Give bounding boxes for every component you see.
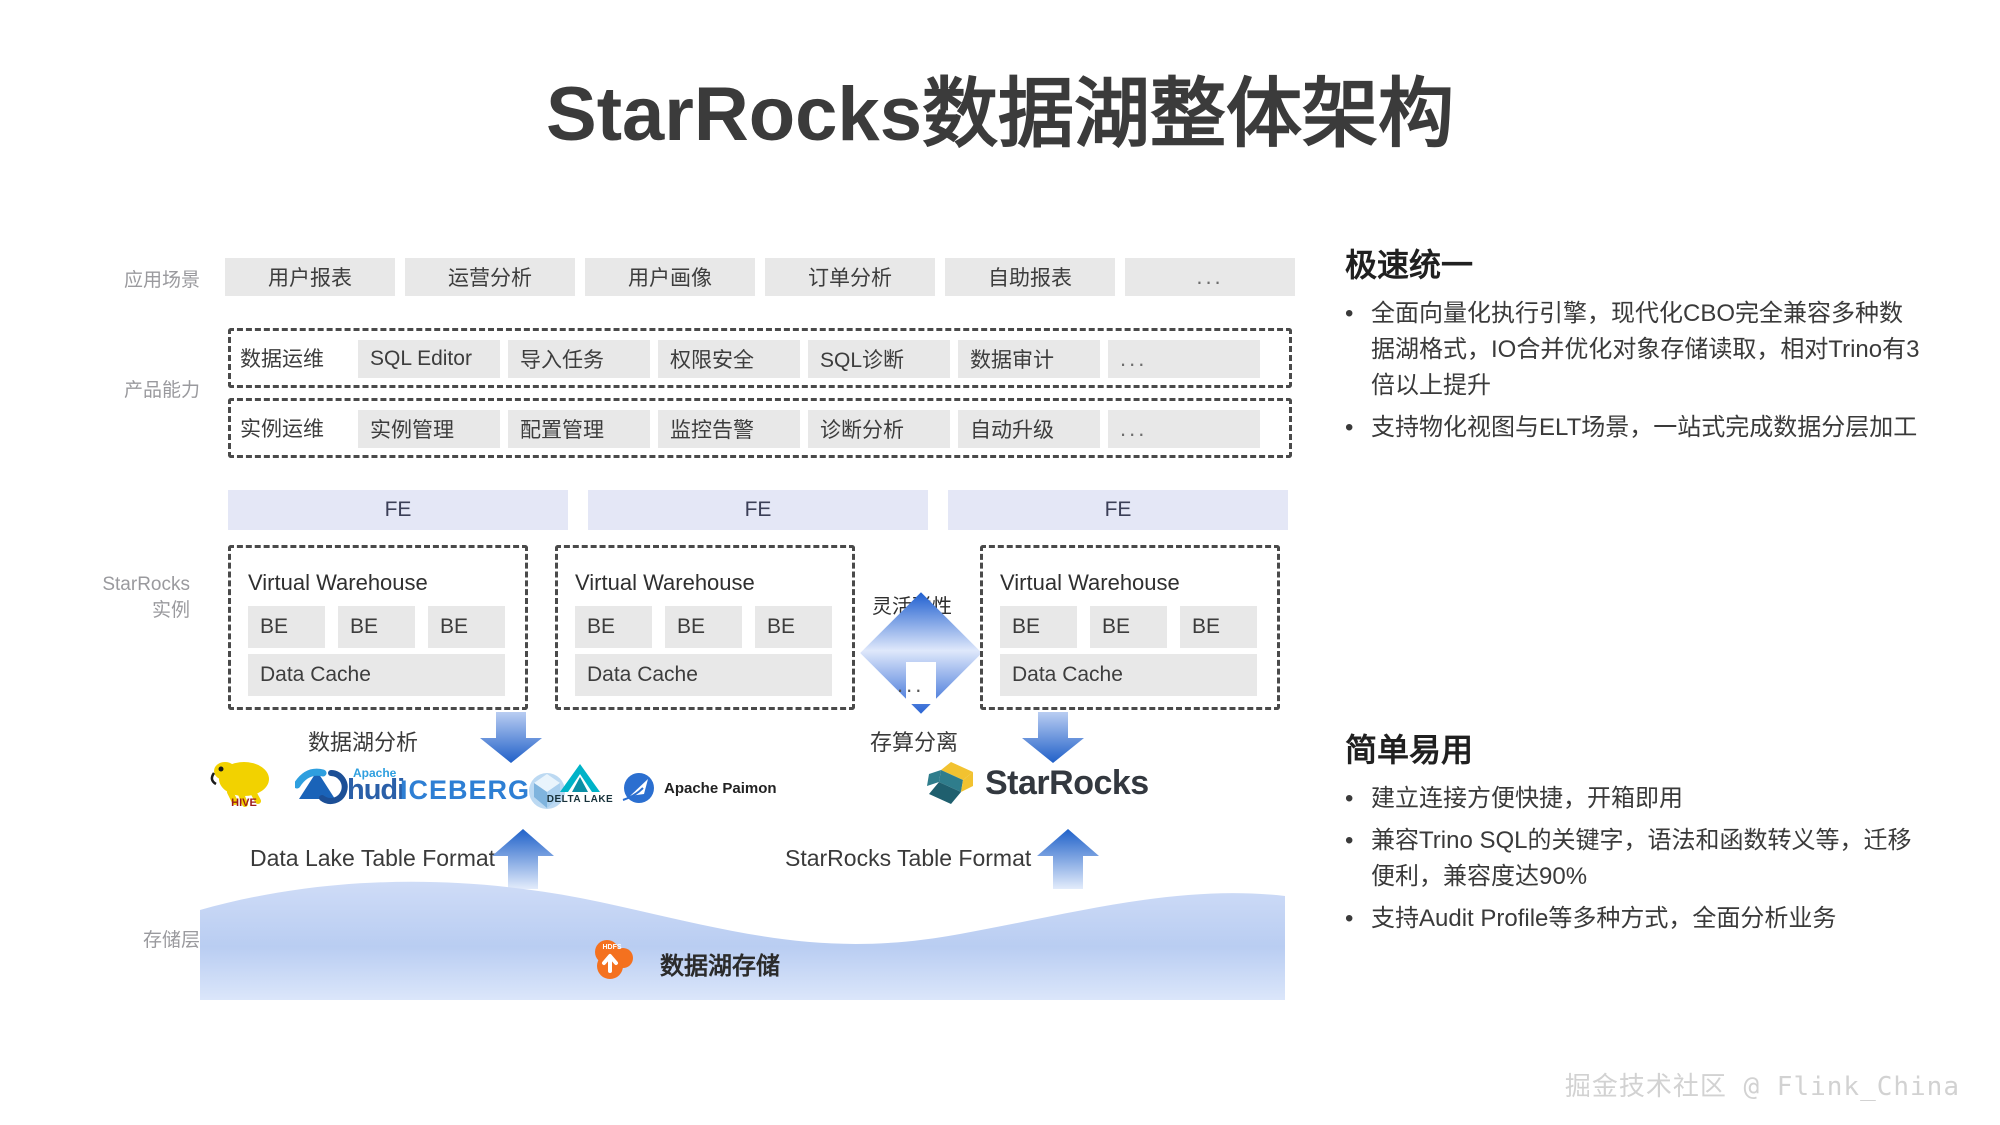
delta-lake-text: DELTA LAKE (547, 794, 613, 805)
panel-heading-0: 极速统一 (1345, 240, 1925, 286)
be-node-0-1[interactable]: BE (338, 606, 415, 648)
bullet-dot-icon: • (1345, 823, 1371, 859)
scenario-chip-more[interactable]: ... (1125, 258, 1295, 296)
data-cache-0[interactable]: Data Cache (248, 654, 505, 696)
svg-text:HIVE: HIVE (231, 797, 257, 809)
data-ops-chip-3[interactable]: SQL诊断 (808, 340, 950, 378)
instance-ops-chip-3[interactable]: 诊断分析 (808, 410, 950, 448)
data-ops-label: 数据运维 (240, 336, 360, 380)
hive-logo: HIVE (208, 755, 283, 810)
instance-ops-chip-1[interactable]: 配置管理 (508, 410, 650, 448)
storage-layer-label: 数据湖存储 (660, 946, 780, 981)
slide-canvas: StarRocks数据湖整体架构 应用场景 产品能力 StarRocks 实例 … (0, 0, 2000, 1125)
axis-label-instances-line2: 实例 (70, 598, 190, 624)
panel-0-bullet-0: • 全面向量化执行引擎，现代化CBO完全兼容多种数据湖格式，IO合并优化对象存储… (1345, 296, 1925, 404)
panel-heading-1: 简单易用 (1345, 725, 1925, 771)
flow-caption-storage-compute: 存算分离 (870, 725, 958, 757)
data-ops-chip-1[interactable]: 导入任务 (508, 340, 650, 378)
virtual-warehouse-title-1: Virtual Warehouse (575, 570, 755, 596)
scenario-chip-1[interactable]: 运营分析 (405, 258, 575, 296)
bullet-dot-icon: • (1345, 901, 1371, 937)
panel-speed-unified: 极速统一 • 全面向量化执行引擎，现代化CBO完全兼容多种数据湖格式，IO合并优… (1345, 240, 1925, 452)
be-node-0-0[interactable]: BE (248, 606, 325, 648)
flow-caption-lake-analysis: 数据湖分析 (308, 725, 418, 757)
starrocks-logo: StarRocks (925, 760, 1149, 806)
be-node-1-2[interactable]: BE (755, 606, 832, 648)
bullet-text: 支持Audit Profile等多种方式，全面分析业务 (1371, 901, 1925, 937)
fe-node-1[interactable]: FE (588, 490, 928, 530)
scenario-chip-0[interactable]: 用户报表 (225, 258, 395, 296)
be-node-1-0[interactable]: BE (575, 606, 652, 648)
panel-1-bullet-2: • 支持Audit Profile等多种方式，全面分析业务 (1345, 901, 1925, 937)
axis-label-instances-line1: StarRocks (70, 572, 190, 598)
axis-label-scenarios: 应用场景 (80, 268, 200, 294)
be-node-0-2[interactable]: BE (428, 606, 505, 648)
scenario-chip-3[interactable]: 订单分析 (765, 258, 935, 296)
scenario-chip-4[interactable]: 自助报表 (945, 258, 1115, 296)
arrow-down-lake-icon (478, 712, 544, 764)
arrow-down-starrocks-icon (1020, 712, 1086, 764)
hdfs-logo: HDFS (590, 938, 638, 980)
bullet-text: 建立连接方便快捷，开箱即用 (1371, 781, 1925, 817)
data-ops-chip-more[interactable]: ... (1108, 340, 1260, 378)
axis-label-storage: 存储层 (80, 928, 200, 954)
axis-label-capabilities: 产品能力 (80, 378, 200, 404)
instance-ops-chip-more[interactable]: ... (1108, 410, 1260, 448)
bullet-text: 全面向量化执行引擎，现代化CBO完全兼容多种数据湖格式，IO合并优化对象存储读取… (1371, 296, 1925, 404)
be-node-1-1[interactable]: BE (665, 606, 742, 648)
scenario-chip-2[interactable]: 用户画像 (585, 258, 755, 296)
svg-text:HDFS: HDFS (602, 944, 621, 951)
paimon-text: Apache Paimon (664, 780, 777, 797)
data-cache-1[interactable]: Data Cache (575, 654, 832, 696)
bullet-text: 兼容Trino SQL的关键字，语法和函数转义等，迁移便利，兼容度达90% (1371, 823, 1925, 895)
virtual-warehouse-title-0: Virtual Warehouse (248, 570, 428, 596)
instance-ops-chip-4[interactable]: 自动升级 (958, 410, 1100, 448)
fe-node-2[interactable]: FE (948, 490, 1288, 530)
virtual-warehouse-title-2: Virtual Warehouse (1000, 570, 1180, 596)
be-node-2-2[interactable]: BE (1180, 606, 1257, 648)
bullet-dot-icon: • (1345, 410, 1371, 446)
panel-1-bullet-1: • 兼容Trino SQL的关键字，语法和函数转义等，迁移便利，兼容度达90% (1345, 823, 1925, 895)
data-cache-2[interactable]: Data Cache (1000, 654, 1257, 696)
iceberg-text: ICEBERG (400, 775, 530, 806)
be-node-2-0[interactable]: BE (1000, 606, 1077, 648)
data-ops-chip-4[interactable]: 数据审计 (958, 340, 1100, 378)
starrocks-text: StarRocks (985, 764, 1149, 803)
data-ops-chip-0[interactable]: SQL Editor (358, 340, 500, 378)
data-ops-chip-2[interactable]: 权限安全 (658, 340, 800, 378)
instance-ops-label: 实例运维 (240, 406, 360, 450)
delta-lake-logo: DELTA LAKE (540, 762, 620, 810)
instance-ops-chip-2[interactable]: 监控告警 (658, 410, 800, 448)
bullet-dot-icon: • (1345, 781, 1371, 817)
hudi-logo: Apache hudi (295, 765, 404, 805)
elastic-dots: ... (897, 672, 924, 698)
panel-0-bullet-1: • 支持物化视图与ELT场景，一站式完成数据分层加工 (1345, 410, 1925, 446)
bullet-text: 支持物化视图与ELT场景，一站式完成数据分层加工 (1371, 410, 1925, 446)
panel-1-bullet-0: • 建立连接方便快捷，开箱即用 (1345, 781, 1925, 817)
fe-node-0[interactable]: FE (228, 490, 568, 530)
panel-easy-to-use: 简单易用 • 建立连接方便快捷，开箱即用 • 兼容Trino SQL的关键字，语… (1345, 725, 1925, 943)
hudi-text: hudi (347, 778, 404, 803)
watermark: 掘金技术社区 @ Flink_China (1565, 1066, 1960, 1103)
be-node-2-1[interactable]: BE (1090, 606, 1167, 648)
paimon-logo: Apache Paimon (620, 770, 777, 806)
bullet-dot-icon: • (1345, 296, 1371, 332)
page-title: StarRocks数据湖整体架构 (0, 52, 2000, 162)
instance-ops-chip-0[interactable]: 实例管理 (358, 410, 500, 448)
